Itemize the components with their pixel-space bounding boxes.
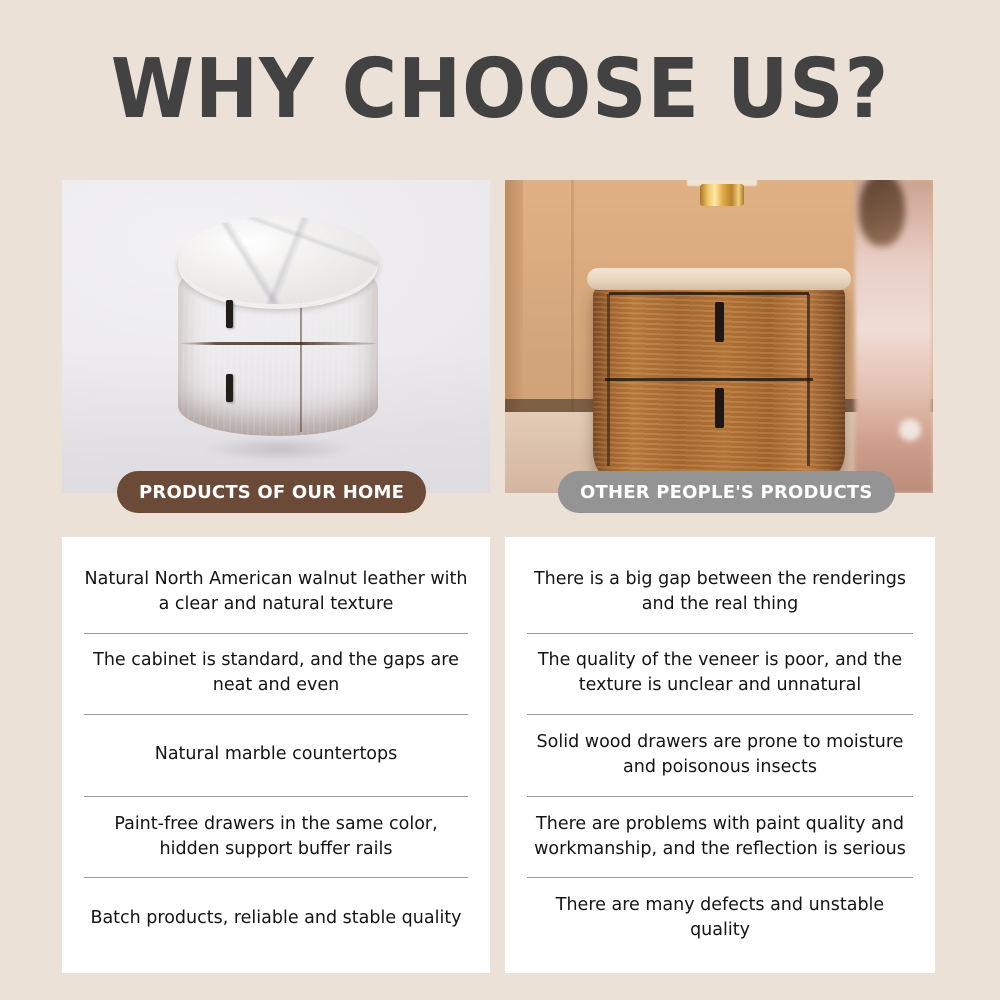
marble-countertop	[178, 216, 378, 304]
our-product-feature-card: Natural North American walnut leather wi…	[62, 537, 490, 973]
drawer-line-middle	[605, 378, 813, 381]
list-item: Paint-free drawers in the same color, hi…	[80, 796, 472, 878]
list-item: Batch products, reliable and stable qual…	[80, 877, 472, 959]
page-title: WHY CHOOSE US?	[40, 46, 960, 134]
list-item: Natural marble countertops	[80, 714, 472, 796]
drawer-handle-upper	[226, 300, 233, 328]
drawer-line-top	[609, 292, 809, 295]
wall-panel-line-2	[571, 180, 574, 412]
list-item: The cabinet is standard, and the gaps ar…	[80, 633, 472, 715]
blurred-person	[855, 180, 933, 493]
list-item: Natural North American walnut leather wi…	[80, 551, 472, 633]
drawer-line-right	[807, 294, 810, 466]
nightstand-stone-top	[587, 268, 851, 290]
list-item: There is a big gap between the rendering…	[523, 551, 917, 633]
list-item: There are many defects and unstable qual…	[523, 877, 917, 959]
drawer-handle-upper	[715, 302, 724, 342]
badge-our-products: PRODUCTS OF OUR HOME	[117, 471, 426, 513]
list-item: There are problems with paint quality an…	[523, 796, 917, 878]
drawer-handle-lower	[715, 388, 724, 428]
gold-lamp-base	[700, 184, 744, 206]
round-nightstand-marble	[178, 216, 378, 446]
list-item: Solid wood drawers are prone to moisture…	[523, 714, 917, 796]
list-item: The quality of the veneer is poor, and t…	[523, 633, 917, 715]
infographic-page: WHY CHOOSE US?	[0, 0, 1000, 1000]
drawer-handle-lower	[226, 374, 233, 402]
drawer-line-left	[607, 294, 610, 466]
badge-other-products: OTHER PEOPLE'S PRODUCTS	[558, 471, 895, 513]
our-product-photo	[62, 180, 490, 493]
other-product-feature-card: There is a big gap between the rendering…	[505, 537, 935, 973]
rounded-nightstand	[593, 268, 845, 488]
table-lamp	[687, 180, 757, 206]
wall-edge-shadow	[505, 180, 523, 412]
other-product-photo	[505, 180, 933, 493]
nightstand-drawer-gap	[180, 342, 376, 345]
